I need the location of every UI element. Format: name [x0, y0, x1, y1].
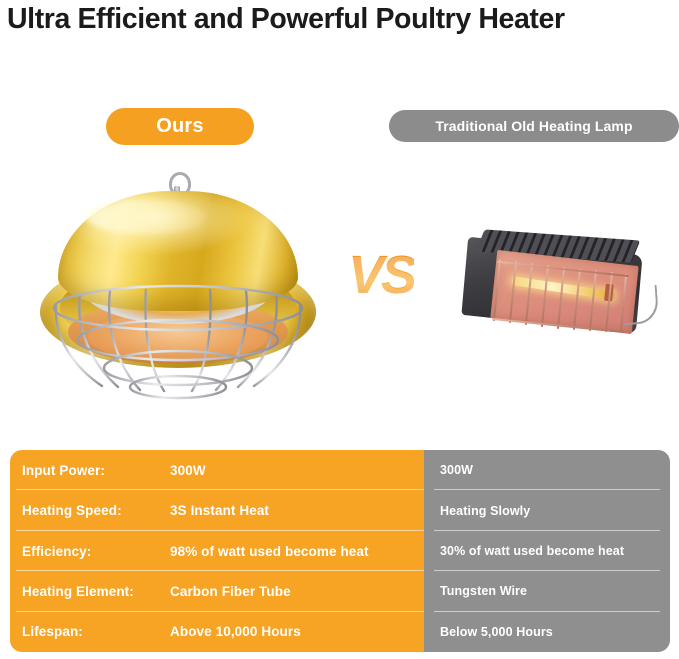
spec-value-traditional: Tungsten Wire — [440, 584, 527, 598]
cell-traditional: Heating Slowly — [424, 490, 670, 530]
spec-value-ours: 300W — [170, 463, 206, 478]
product-image-ours — [38, 172, 328, 397]
table-row: Lifespan: Above 10,000 Hours Below 5,000… — [10, 612, 670, 652]
spec-label: Heating Element: — [22, 584, 170, 599]
spec-value-ours: 98% of watt used become heat — [170, 544, 369, 559]
gold-dome-highlight — [86, 200, 206, 234]
cell-traditional: Below 5,000 Hours — [424, 612, 670, 652]
spec-value-ours: Above 10,000 Hours — [170, 624, 301, 639]
spec-value-traditional: Heating Slowly — [440, 504, 530, 518]
wire-grill — [492, 256, 642, 332]
table-row: Heating Speed: 3S Instant Heat Heating S… — [10, 490, 670, 530]
spec-value-traditional: Below 5,000 Hours — [440, 625, 553, 639]
cell-traditional: Tungsten Wire — [424, 571, 670, 611]
spec-label: Lifespan: — [22, 624, 170, 639]
table-row: Input Power: 300W 300W — [10, 450, 670, 490]
cell-ours: Efficiency: 98% of watt used become heat — [10, 531, 424, 571]
spec-value-traditional: 30% of watt used become heat — [440, 544, 624, 558]
table-row: Heating Element: Carbon Fiber Tube Tungs… — [10, 571, 670, 611]
spec-value-traditional: 300W — [440, 463, 473, 477]
spec-label: Efficiency: — [22, 544, 170, 559]
product-image-traditional — [462, 234, 658, 344]
badge-ours: Ours — [106, 108, 254, 145]
vs-separator: VS — [348, 248, 414, 302]
comparison-table: Input Power: 300W 300W Heating Speed: 3S… — [10, 450, 670, 652]
spec-label: Heating Speed: — [22, 503, 170, 518]
cell-ours: Lifespan: Above 10,000 Hours — [10, 612, 424, 652]
mount-bracket — [621, 285, 660, 325]
table-row: Efficiency: 98% of watt used become heat… — [10, 531, 670, 571]
cell-ours: Heating Speed: 3S Instant Heat — [10, 490, 424, 530]
spec-value-ours: 3S Instant Heat — [170, 503, 269, 518]
cell-traditional: 300W — [424, 450, 670, 490]
spec-label: Input Power: — [22, 463, 170, 478]
cell-ours: Heating Element: Carbon Fiber Tube — [10, 571, 424, 611]
cell-traditional: 30% of watt used become heat — [424, 531, 670, 571]
spec-value-ours: Carbon Fiber Tube — [170, 584, 291, 599]
page-title: Ultra Efficient and Powerful Poultry Hea… — [7, 2, 672, 36]
badge-traditional: Traditional Old Heating Lamp — [389, 110, 679, 142]
wire-guard-cage — [50, 290, 306, 396]
cell-ours: Input Power: 300W — [10, 450, 424, 490]
